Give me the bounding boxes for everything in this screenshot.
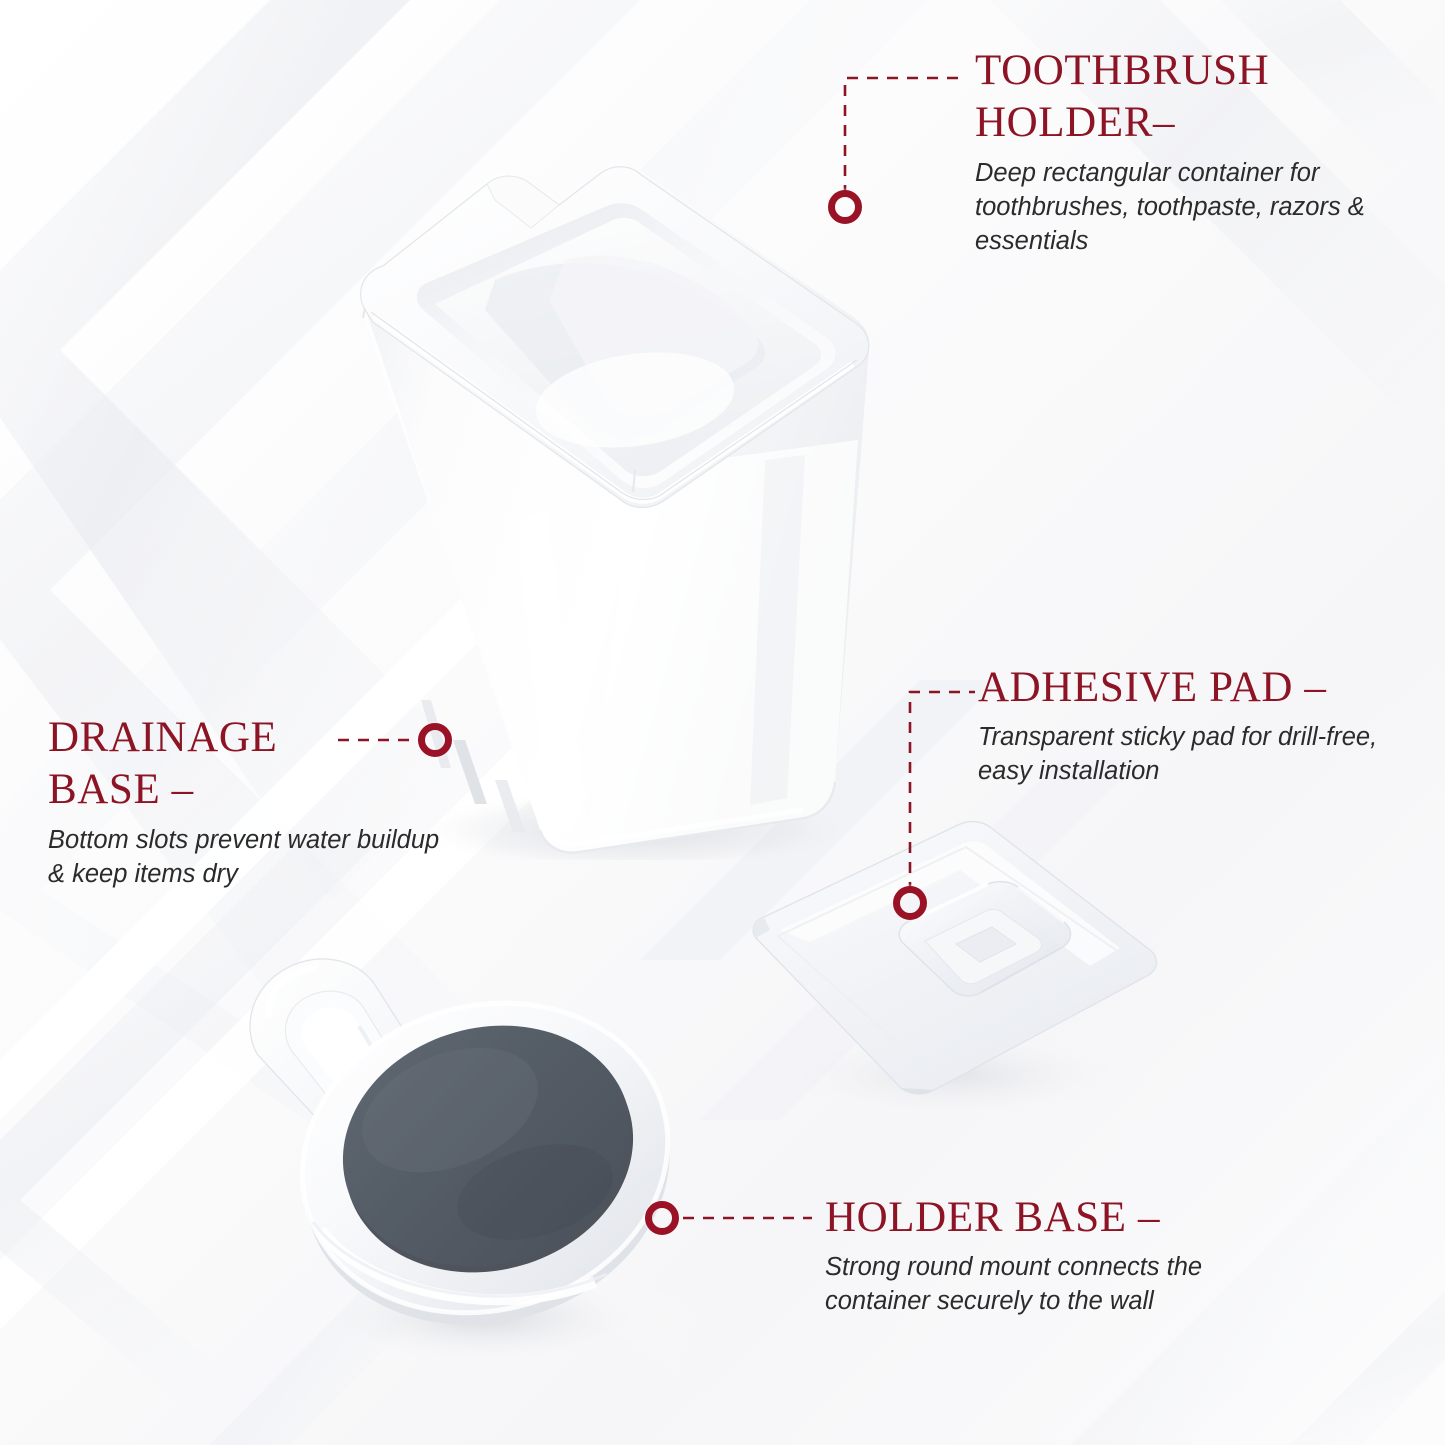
product-holder-base [235, 930, 695, 1380]
callout-description-toothbrush-holder: Deep rectangular container for toothbrus… [975, 157, 1425, 259]
callout-title-holder-base: HOLDER BASE – [825, 1192, 1275, 1244]
callout-holder-base: HOLDER BASE – Strong round mount connect… [825, 1192, 1275, 1319]
marker-toothbrush-holder[interactable] [828, 190, 862, 224]
holder-base-illustration [235, 930, 695, 1380]
callout-description-holder-base: Strong round mount connects the containe… [825, 1251, 1275, 1319]
callout-toothbrush-holder: TOOTHBRUSH HOLDER– Deep rectangular cont… [975, 45, 1425, 259]
callout-description-adhesive-pad: Transparent sticky pad for drill-free, e… [978, 721, 1418, 789]
callout-description-drainage-base: Bottom slots prevent water buildup & kee… [48, 824, 518, 892]
infographic-canvas: TOOTHBRUSH HOLDER– Deep rectangular cont… [0, 0, 1445, 1445]
marker-holder-base[interactable] [645, 1201, 679, 1235]
marker-adhesive-pad[interactable] [893, 886, 927, 920]
callout-title-drainage-base: DRAINAGE BASE – [48, 712, 518, 817]
product-adhesive-pad [720, 810, 1180, 1140]
callout-title-toothbrush-holder: TOOTHBRUSH HOLDER– [975, 45, 1425, 150]
callout-drainage-base: DRAINAGE BASE – Bottom slots prevent wat… [48, 712, 518, 892]
adhesive-pad-illustration [720, 810, 1180, 1140]
callout-title-adhesive-pad: ADHESIVE PAD – [978, 662, 1418, 714]
callout-adhesive-pad: ADHESIVE PAD – Transparent sticky pad fo… [978, 662, 1418, 789]
